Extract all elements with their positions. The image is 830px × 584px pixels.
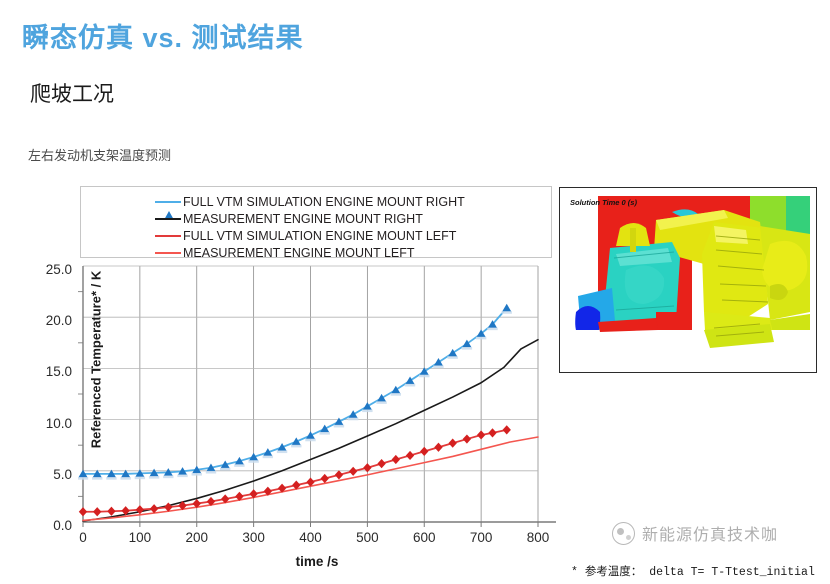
watermark-logo-icon [612, 522, 635, 545]
page-title: 瞬态仿真 vs. 测试结果 [22, 16, 304, 55]
x-tick-label: 700 [461, 530, 501, 545]
x-tick-label: 600 [404, 530, 444, 545]
cfd-render-panel: Solution Time 0 (s) [559, 187, 817, 373]
y-tick-label: 10.0 [32, 416, 72, 431]
watermark: 新能源仿真技术咖 [612, 521, 778, 545]
plot-svg [78, 262, 556, 530]
page-subtitle: 爬坡工况 [30, 78, 114, 108]
legend-item-meas-right: MEASUREMENT ENGINE MOUNT RIGHT [155, 210, 423, 227]
footnote-formula: delta T= T-Ttest_initial [649, 566, 815, 579]
chart-caption: 左右发动机支架温度预测 [28, 145, 171, 164]
engine-thermal-image [564, 192, 812, 368]
x-axis-label: time /s [78, 554, 556, 569]
plot-area: Referenced Temperature* / K 0.05.010.015… [78, 266, 556, 526]
legend-label-sim-right: FULL VTM SIMULATION ENGINE MOUNT RIGHT [183, 195, 465, 209]
y-tick-label: 5.0 [32, 467, 72, 482]
footnote-cn: 参考温度： [585, 566, 643, 578]
y-tick-label: 20.0 [32, 313, 72, 328]
legend-swatch-meas-left [155, 247, 181, 259]
legend-swatch-sim-left [155, 230, 181, 242]
legend-label-meas-left: MEASUREMENT ENGINE MOUNT LEFT [183, 246, 415, 260]
legend-item-meas-left: MEASUREMENT ENGINE MOUNT LEFT [155, 244, 415, 261]
watermark-text: 新能源仿真技术咖 [642, 521, 778, 545]
legend-item-sim-right: FULL VTM SIMULATION ENGINE MOUNT RIGHT [155, 193, 465, 210]
temperature-chart: FULL VTM SIMULATION ENGINE MOUNT RIGHT M… [78, 186, 556, 584]
footnote: * 参考温度： delta T= T-Ttest_initial [571, 563, 815, 579]
x-tick-label: 300 [234, 530, 274, 545]
legend-swatch-meas-right [155, 213, 181, 225]
legend-item-sim-left: FULL VTM SIMULATION ENGINE MOUNT LEFT [155, 227, 456, 244]
x-tick-label: 0 [63, 530, 103, 545]
y-tick-label: 25.0 [32, 262, 72, 277]
y-tick-label: 15.0 [32, 364, 72, 379]
legend-label-sim-left: FULL VTM SIMULATION ENGINE MOUNT LEFT [183, 229, 456, 243]
x-tick-label: 800 [518, 530, 558, 545]
footnote-asterisk: * [571, 566, 578, 579]
legend-swatch-sim-right [155, 196, 181, 208]
x-tick-label: 500 [347, 530, 387, 545]
legend-label-meas-right: MEASUREMENT ENGINE MOUNT RIGHT [183, 212, 423, 226]
x-tick-label: 200 [177, 530, 217, 545]
slide-canvas: 瞬态仿真 vs. 测试结果 爬坡工况 左右发动机支架温度预测 FULL VTM … [0, 0, 830, 584]
chart-legend: FULL VTM SIMULATION ENGINE MOUNT RIGHT M… [80, 186, 552, 258]
x-axis: 0100200300400500600700800 time /s [78, 526, 556, 572]
x-tick-label: 100 [120, 530, 160, 545]
solution-time-label: Solution Time 0 (s) [570, 198, 637, 207]
x-tick-label: 400 [291, 530, 331, 545]
